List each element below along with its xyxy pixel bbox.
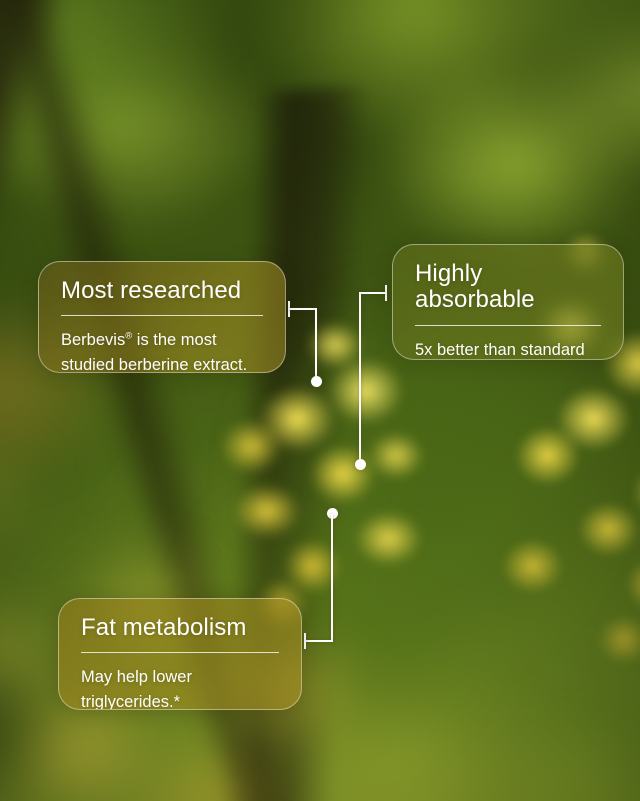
callout-content: Fat metabolism May help lower triglyceri…	[59, 599, 301, 710]
connector-horizontal	[288, 308, 317, 310]
connector-tick	[288, 301, 290, 317]
product-benefit-graphic: Most researched Berbevis® is the most st…	[0, 0, 640, 801]
connector-vertical	[315, 308, 317, 380]
connector-vertical	[331, 514, 333, 642]
callout-body: Berbevis® is the most studied berberine …	[61, 328, 263, 373]
callout-content: Highly absorbable 5x better than standar…	[393, 245, 623, 360]
connector-vertical	[359, 292, 361, 463]
callout-body: 5x better than standard extracts.	[415, 338, 601, 360]
callout-title: Highly absorbable	[415, 261, 601, 314]
callout-body: May help lower triglycerides.*	[81, 665, 279, 710]
callout-divider	[81, 652, 279, 653]
connector-endpoint-dot	[311, 376, 322, 387]
callout-title: Most researched	[61, 278, 263, 304]
connector-horizontal	[359, 292, 387, 294]
connector-endpoint-dot	[327, 508, 338, 519]
callout-body-brand: Berbevis	[61, 331, 125, 349]
connector-tick	[385, 285, 387, 301]
callout-divider	[415, 325, 601, 326]
callout-divider	[61, 315, 263, 316]
callout-card-highly-absorbable[interactable]: Highly absorbable 5x better than standar…	[392, 244, 624, 360]
connector-endpoint-dot	[355, 459, 366, 470]
connector-tick	[304, 633, 306, 649]
callout-title: Fat metabolism	[81, 615, 279, 641]
connector-horizontal	[304, 640, 333, 642]
callout-card-fat-metabolism[interactable]: Fat metabolism May help lower triglyceri…	[58, 598, 302, 710]
callout-card-most-researched[interactable]: Most researched Berbevis® is the most st…	[38, 261, 286, 373]
callout-content: Most researched Berbevis® is the most st…	[39, 262, 285, 373]
